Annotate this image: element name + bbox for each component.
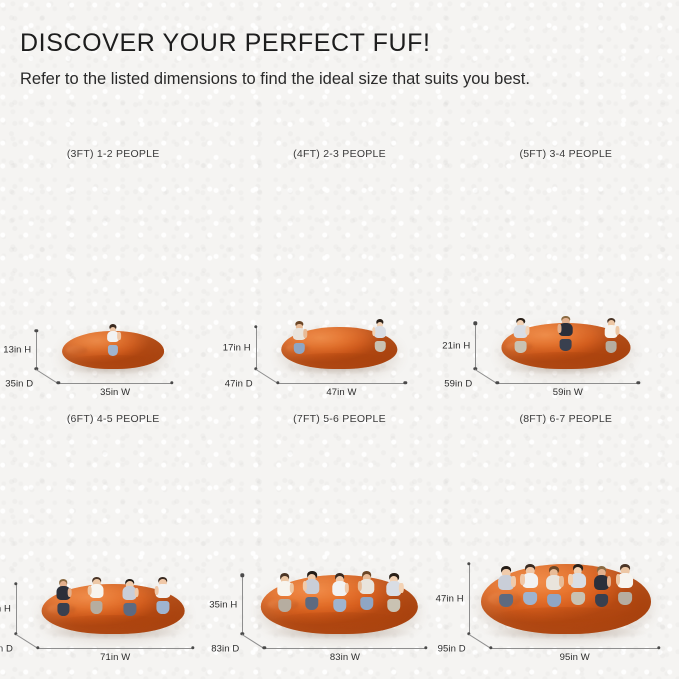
- dimension-height-label: 13in H: [3, 344, 31, 355]
- size-label-fuf-7ft: (7FT) 5-6 PEOPLE: [226, 413, 452, 425]
- dimension-width-label: 71in W: [100, 652, 130, 663]
- person-legs: [547, 594, 561, 608]
- dimension-depth-line: [36, 369, 59, 384]
- dimension-endpoint-dot: [276, 381, 279, 384]
- bean-bag-fuf-3ft: [62, 331, 164, 369]
- person-arm: [511, 576, 515, 586]
- bean-bag-fuf-8ft: [481, 564, 651, 634]
- person-arm: [520, 574, 524, 584]
- dimension-height-line: [16, 584, 17, 634]
- person-figure: [277, 574, 293, 607]
- person-legs: [306, 597, 319, 610]
- dimension-endpoint-dot: [170, 381, 173, 384]
- dimension-width-line: [264, 648, 425, 649]
- dimension-width-label: 35in W: [100, 387, 130, 398]
- dimension-width-label: 59in W: [553, 387, 583, 398]
- dimension-depth-label: 71in D: [0, 644, 13, 655]
- bean-bag-fuf-6ft: [42, 584, 185, 634]
- dimension-depth-label: 35in D: [5, 379, 33, 390]
- person-figure: [498, 567, 515, 602]
- dimension-height-line: [469, 564, 470, 634]
- person-figure: [89, 578, 105, 609]
- page-header: DISCOVER YOUR PERFECT FUF! Refer to the …: [0, 0, 679, 91]
- person-figure: [593, 567, 610, 602]
- person-legs: [278, 599, 291, 612]
- product-stage-fuf-3ft: 13in H35in D35in W: [0, 215, 226, 395]
- person-figure: [521, 565, 538, 600]
- person-figure: [107, 325, 120, 351]
- person-arm: [290, 583, 294, 593]
- bean-bag-fuf-7ft: [261, 575, 417, 634]
- product-stage-fuf-6ft: 26in H71in D71in W: [0, 480, 226, 660]
- bean-bag-fuf-4ft: [282, 327, 397, 369]
- dimension-endpoint-dot: [36, 646, 39, 649]
- person-arm: [135, 588, 139, 597]
- product-stage-fuf-7ft: 35in H83in D83in W: [226, 480, 452, 660]
- person-figure: [331, 574, 347, 607]
- person-arm: [88, 586, 92, 595]
- dimension-width-line: [278, 383, 405, 384]
- dimension-width-label: 47in W: [326, 387, 356, 398]
- bean-bag-fuf-5ft: [501, 323, 630, 369]
- size-cell-fuf-7ft[interactable]: (7FT) 5-6 PEOPLE35in H83in D83in W: [226, 405, 452, 670]
- page-title: DISCOVER YOUR PERFECT FUF!: [20, 30, 679, 58]
- dimension-height-line: [475, 323, 476, 369]
- dimension-depth-line: [242, 634, 265, 649]
- dimension-height-label: 26in H: [0, 603, 11, 614]
- dimension-height-line: [36, 331, 37, 369]
- dimension-depth-line: [475, 369, 498, 384]
- dimension-height-label: 21in H: [442, 341, 470, 352]
- dimension-depth-line: [468, 634, 491, 649]
- person-figure: [304, 572, 320, 605]
- person-legs: [374, 341, 385, 352]
- dimension-endpoint-dot: [241, 574, 244, 577]
- dimension-endpoint-dot: [467, 562, 470, 565]
- person-legs: [360, 597, 373, 610]
- dimension-depth-label: 95in D: [438, 644, 466, 655]
- dimension-endpoint-dot: [14, 582, 17, 585]
- dimension-depth-label: 47in D: [225, 379, 253, 390]
- dimension-endpoint-dot: [489, 646, 492, 649]
- person-arm: [616, 574, 620, 584]
- person-arm: [303, 581, 307, 591]
- product-stage-fuf-5ft: 21in H59in D59in W: [453, 215, 679, 395]
- person-legs: [294, 343, 305, 354]
- dimension-endpoint-dot: [657, 646, 660, 649]
- size-cell-fuf-6ft[interactable]: (6FT) 4-5 PEOPLE26in H71in D71in W: [0, 405, 226, 670]
- size-label-fuf-4ft: (4FT) 2-3 PEOPLE: [226, 148, 452, 160]
- dimension-height-label: 47in H: [436, 594, 464, 605]
- size-cell-fuf-4ft[interactable]: (4FT) 2-3 PEOPLE17in H47in D47in W: [226, 140, 452, 405]
- dimension-endpoint-dot: [57, 381, 60, 384]
- dimension-endpoint-dot: [637, 381, 640, 384]
- person-legs: [595, 594, 609, 608]
- product-stage-fuf-8ft: 47in H95in D95in W: [453, 480, 679, 660]
- person-legs: [333, 599, 346, 612]
- size-label-fuf-6ft: (6FT) 4-5 PEOPLE: [0, 413, 226, 425]
- person-arm: [607, 576, 611, 586]
- product-stage-fuf-4ft: 17in H47in D47in W: [226, 215, 452, 395]
- dimension-width-line: [38, 648, 193, 649]
- person-legs: [571, 592, 585, 606]
- person-legs: [515, 341, 527, 353]
- dimension-depth-label: 59in D: [444, 379, 472, 390]
- person-figure: [604, 319, 619, 348]
- person-arm: [372, 327, 376, 335]
- dimension-width-label: 95in W: [560, 652, 590, 663]
- dimension-endpoint-dot: [474, 322, 477, 325]
- person-figure: [155, 578, 171, 609]
- dimension-width-line: [58, 383, 172, 384]
- size-cell-fuf-8ft[interactable]: (8FT) 6-7 PEOPLE47in H95in D95in W: [453, 405, 679, 670]
- page-subtitle: Refer to the listed dimensions to find t…: [20, 68, 565, 91]
- size-label-fuf-3ft: (3FT) 1-2 PEOPLE: [0, 148, 226, 160]
- person-legs: [560, 339, 572, 351]
- dimension-endpoint-dot: [404, 381, 407, 384]
- dimension-endpoint-dot: [254, 325, 257, 328]
- person-figure: [55, 580, 71, 611]
- person-figure: [558, 317, 573, 346]
- person-figure: [513, 319, 528, 348]
- dimension-endpoint-dot: [263, 646, 266, 649]
- dimension-endpoint-dot: [496, 381, 499, 384]
- person-figure: [545, 567, 562, 602]
- person-legs: [618, 592, 632, 606]
- size-cell-fuf-3ft[interactable]: (3FT) 1-2 PEOPLE13in H35in D35in W: [0, 140, 226, 405]
- person-legs: [605, 341, 617, 353]
- person-figure: [373, 320, 387, 348]
- person-arm: [399, 583, 403, 593]
- dimension-depth-line: [255, 369, 278, 384]
- person-arm: [358, 581, 362, 591]
- bean-bag-seam: [66, 346, 86, 354]
- person-figure: [359, 572, 375, 605]
- person-arm: [568, 574, 572, 584]
- dimension-depth-line: [16, 634, 39, 649]
- dimension-height-label: 35in H: [209, 599, 237, 610]
- dimension-endpoint-dot: [191, 646, 194, 649]
- size-guide-page: DISCOVER YOUR PERFECT FUF! Refer to the …: [0, 0, 679, 679]
- person-legs: [499, 594, 513, 608]
- size-grid: (3FT) 1-2 PEOPLE13in H35in D35in W(4FT) …: [0, 140, 679, 670]
- dimension-height-label: 17in H: [223, 343, 251, 354]
- dimension-depth-label: 83in D: [211, 644, 239, 655]
- person-arm: [154, 586, 158, 595]
- person-figure: [569, 565, 586, 600]
- person-arm: [559, 576, 563, 586]
- dimension-width-label: 83in W: [330, 652, 360, 663]
- dimension-height-line: [256, 327, 257, 369]
- person-figure: [292, 322, 306, 350]
- dimension-height-line: [242, 575, 243, 634]
- person-arm: [616, 326, 620, 335]
- dimension-endpoint-dot: [35, 329, 38, 332]
- person-legs: [523, 592, 537, 606]
- dimension-width-line: [491, 648, 659, 649]
- dimension-width-line: [497, 383, 638, 384]
- size-label-fuf-8ft: (8FT) 6-7 PEOPLE: [453, 413, 679, 425]
- person-figure: [122, 580, 138, 611]
- size-label-fuf-5ft: (5FT) 3-4 PEOPLE: [453, 148, 679, 160]
- person-arm: [525, 326, 529, 335]
- person-arm: [557, 324, 561, 333]
- person-legs: [388, 599, 401, 612]
- person-figure: [386, 574, 402, 607]
- person-figure: [617, 565, 634, 600]
- dimension-endpoint-dot: [424, 646, 427, 649]
- size-cell-fuf-5ft[interactable]: (5FT) 3-4 PEOPLE21in H59in D59in W: [453, 140, 679, 405]
